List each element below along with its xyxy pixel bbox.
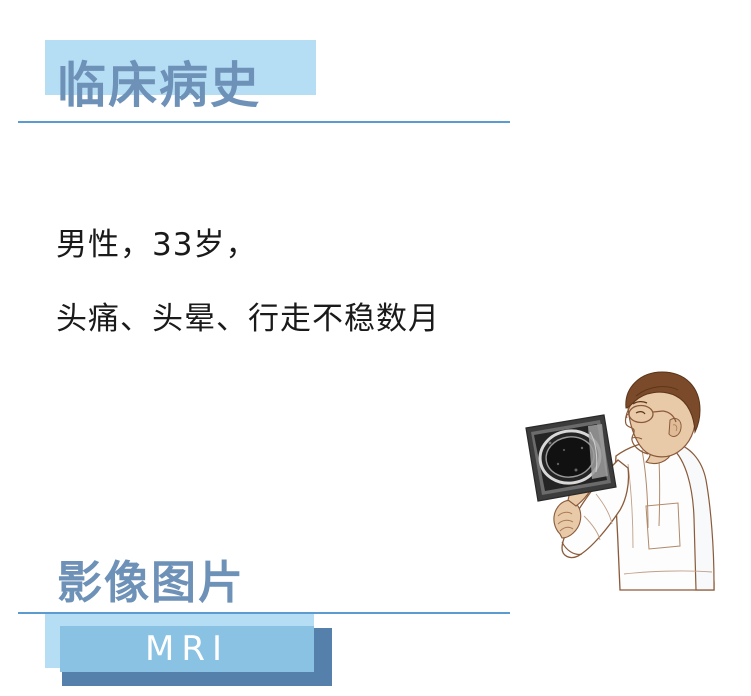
mri-label: MRI: [60, 626, 314, 672]
mri-film: [526, 415, 616, 501]
imaging-section-title: 影像图片: [57, 557, 245, 609]
patient-symptoms-line: 头痛、头晕、行走不稳数月: [56, 300, 440, 338]
clinical-history-title: 临床病史: [57, 58, 261, 114]
doctor-reading-mri-illustration: [500, 368, 751, 620]
presentation-slide: 临床病史 男性，33岁， 头痛、头晕、行走不稳数月: [0, 0, 751, 696]
clinical-history-divider: [18, 121, 510, 123]
patient-demographics-line: 男性，33岁，: [56, 226, 257, 264]
